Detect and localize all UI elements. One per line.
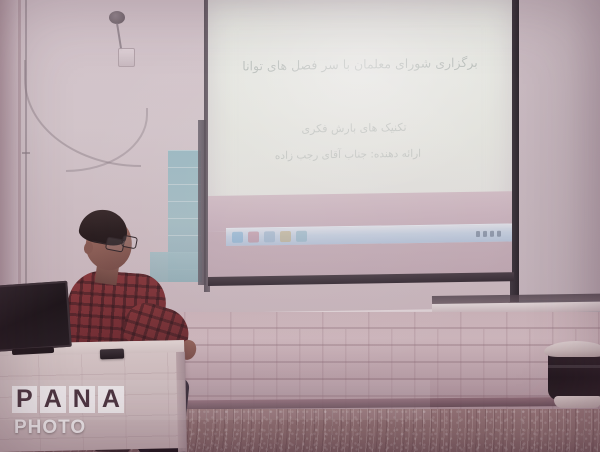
left-wall-shadow [0,0,20,318]
monitor-bezel [0,281,72,352]
floor-bin-base [554,396,600,408]
slide-text-block: برگزاری شورای معلمان با سر فصل های توانا… [208,0,512,200]
right-wall [516,0,600,320]
vertical-cable [25,0,27,318]
floor-bin [548,350,600,400]
slide-title: برگزاری شورای معلمان با سر فصل های توانا [222,52,498,76]
system-tray-icon [476,230,501,236]
eyeglasses-bridge-icon [121,240,124,241]
eyeglasses-right-lens-icon [121,235,138,250]
slide-subtitle: تکنیک های بارش فکری [222,118,486,140]
taskbar-spacer [312,234,471,236]
projection-screen: برگزاری شورای معلمان با سر فصل های توانا… [204,0,519,302]
podium-brick-joints [0,352,186,452]
cable-hook [22,152,30,154]
slide-presenter: ارائه دهنده: جناب آقای رجب زاده [222,146,474,166]
mobile-phone [100,349,124,360]
wall-corner [18,0,21,318]
start-icon [232,232,243,243]
media-icon [264,231,275,242]
floor-bin-lid [544,341,600,357]
folder-icon [280,231,291,242]
floor-bin-ring [548,365,600,368]
app-icon [296,231,307,242]
photo-scene: برگزاری شورای معلمان با سر فصل های توانا… [0,0,600,452]
browser-icon [248,231,259,242]
